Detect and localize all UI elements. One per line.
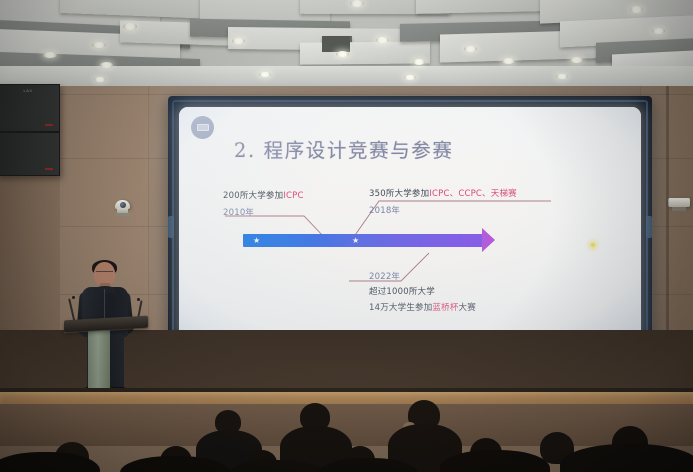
timeline-arrow-bar xyxy=(243,234,483,247)
presenter-glasses xyxy=(96,271,113,275)
laser-pointer-dot xyxy=(591,243,595,247)
projection-screen[interactable]: 2. 程序设计竞赛与参赛 ★ ★ xyxy=(168,96,652,350)
timeline-label-2022-line2: 14万大学生参加蓝桥杯大赛 xyxy=(369,301,476,313)
timeline-label-2022-year: 2022年 xyxy=(369,270,400,282)
timeline-arrow-head xyxy=(482,228,495,252)
label-2022-accent: 蓝桥杯 xyxy=(432,303,458,313)
label-2018-accent: ICPC、CCPC、天梯赛 xyxy=(429,189,517,199)
label-2010-accent: ICPC xyxy=(283,191,303,201)
wall-mounted-device xyxy=(668,198,690,207)
timeline-label-2010-headline: 200所大学参加ICPC xyxy=(223,189,304,201)
audience xyxy=(0,400,693,472)
timeline-label-2010-year: 2010年 xyxy=(223,206,254,218)
label-2010-text: 200所大学参加 xyxy=(223,191,283,201)
line-array-speaker: LAX xyxy=(0,84,60,132)
wall-device-bracket xyxy=(672,207,686,211)
ptz-camera xyxy=(115,200,130,217)
label-2022-pre: 14万大学生参加 xyxy=(369,303,432,313)
timeline-label-2022-line1: 超过1000所大学 xyxy=(369,285,435,297)
screen-display-area: 2. 程序设计竞赛与参赛 ★ ★ xyxy=(179,107,641,339)
screen-side-tab-right xyxy=(646,216,652,238)
label-2022-post: 大赛 xyxy=(459,303,476,313)
screen-side-tab-left xyxy=(168,216,174,238)
ceiling-vent xyxy=(322,36,350,52)
timeline-marker-2018: ★ xyxy=(352,237,359,244)
ceiling xyxy=(0,0,693,88)
microphone-left-head xyxy=(72,296,75,299)
line-array-speaker-lower xyxy=(0,132,60,176)
microphone-right-head xyxy=(137,298,140,301)
lecture-hall-scene: LAX 2. 程序设计竞赛与参赛 xyxy=(0,0,693,472)
slide-canvas: 2. 程序设计竞赛与参赛 ★ ★ xyxy=(179,107,641,339)
audience-shoulders xyxy=(560,444,693,472)
label-2018-text: 350所大学参加 xyxy=(369,189,429,199)
timeline-label-2018-year: 2018年 xyxy=(369,204,400,216)
timeline-label-2018-headline: 350所大学参加ICPC、CCPC、天梯赛 xyxy=(369,187,517,199)
timeline-marker-2010: ★ xyxy=(253,237,260,244)
